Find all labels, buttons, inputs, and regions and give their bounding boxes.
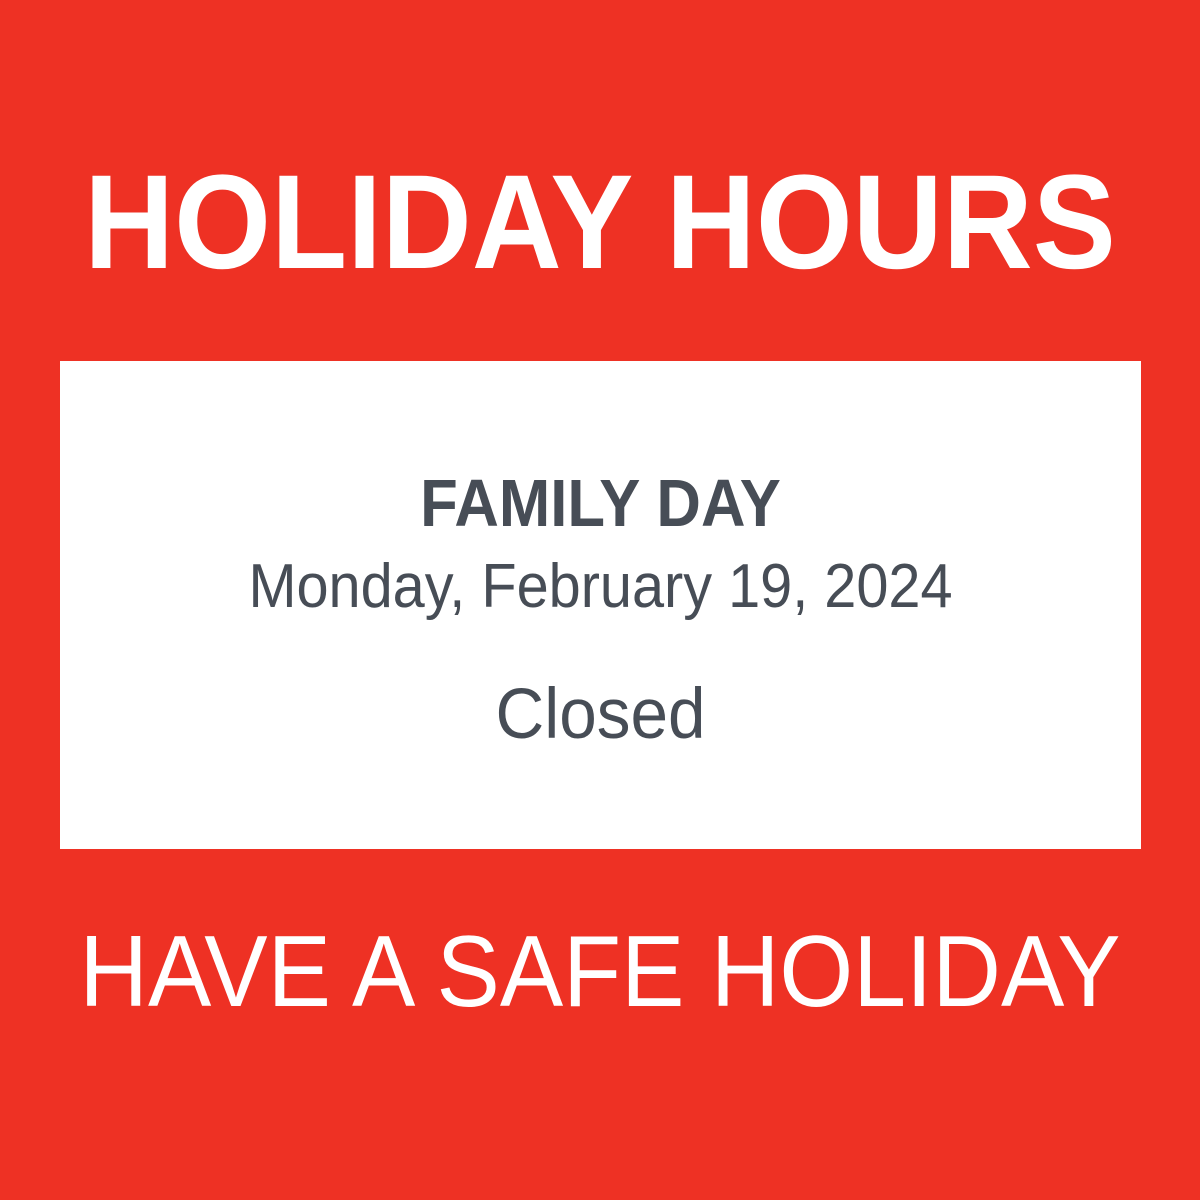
holiday-details-card: FAMILY DAY Monday, February 19, 2024 Clo… — [60, 361, 1141, 849]
holiday-hours-notice: HOLIDAY HOURS FAMILY DAY Monday, Februar… — [0, 0, 1200, 1200]
holiday-name: FAMILY DAY — [103, 469, 1098, 539]
holiday-date: Monday, February 19, 2024 — [98, 553, 1103, 621]
footer-message: HAVE A SAFE HOLIDAY — [36, 916, 1164, 1028]
status-badge: Closed — [87, 677, 1114, 753]
page-title: HOLIDAY HOURS — [42, 148, 1158, 298]
holiday-details-content: FAMILY DAY Monday, February 19, 2024 Clo… — [60, 361, 1141, 753]
